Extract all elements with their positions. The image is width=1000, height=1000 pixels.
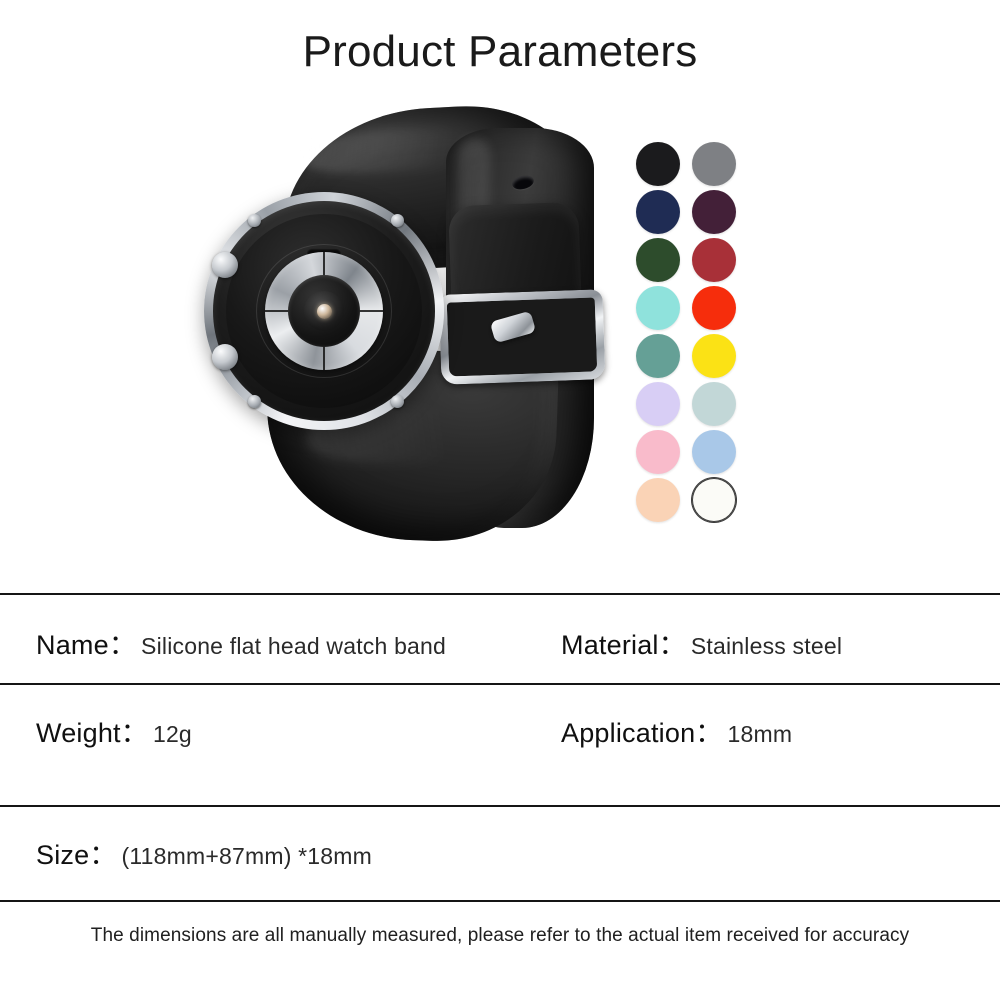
spec-size-value: (118mm+87mm) *18mm bbox=[122, 843, 372, 870]
spec-application-value: 18mm bbox=[728, 721, 793, 748]
spec-size: Size： (118mm+87mm) *18mm bbox=[36, 833, 372, 872]
spec-weight-label: Weight： bbox=[36, 711, 148, 750]
case-screw bbox=[391, 395, 404, 408]
spec-material-value: Stainless steel bbox=[691, 633, 842, 660]
color-swatch-teal-green[interactable] bbox=[636, 334, 680, 378]
color-swatch-yellow[interactable] bbox=[692, 334, 736, 378]
spec-weight: Weight： 12g bbox=[36, 711, 192, 750]
measurement-disclaimer: The dimensions are all manually measured… bbox=[0, 925, 1000, 947]
color-swatch-lavender[interactable] bbox=[636, 382, 680, 426]
spec-material-label: Material： bbox=[561, 623, 686, 662]
watch-upper-side-button[interactable] bbox=[212, 252, 238, 278]
spec-weight-value: 12g bbox=[153, 721, 192, 748]
color-swatch-black[interactable] bbox=[636, 142, 680, 186]
heart-rate-sensor-lens bbox=[317, 304, 332, 319]
spec-application-label: Application： bbox=[561, 711, 723, 750]
color-swatch-dark-purple[interactable] bbox=[692, 190, 736, 234]
color-swatch-dark-green[interactable] bbox=[636, 238, 680, 282]
case-screw bbox=[248, 395, 261, 408]
color-swatch-bright-red[interactable] bbox=[692, 286, 736, 330]
spec-name: Name： Silicone flat head watch band bbox=[36, 623, 446, 662]
stainless-steel-buckle bbox=[438, 289, 605, 385]
spec-name-value: Silicone flat head watch band bbox=[141, 633, 446, 660]
color-swatch-gray[interactable] bbox=[692, 142, 736, 186]
case-screw bbox=[391, 214, 404, 227]
strap-hole bbox=[511, 174, 535, 192]
watch-band-photo bbox=[196, 100, 626, 550]
color-swatch-pink[interactable] bbox=[636, 430, 680, 474]
smart-watch-case bbox=[204, 192, 444, 430]
product-image-panel bbox=[0, 95, 1000, 565]
watch-case-back bbox=[226, 214, 422, 408]
color-swatch-peach[interactable] bbox=[636, 478, 680, 522]
case-screw bbox=[248, 214, 261, 227]
spec-material: Material： Stainless steel bbox=[561, 623, 842, 662]
watch-lower-side-button[interactable] bbox=[212, 344, 238, 370]
color-swatch-brick-red[interactable] bbox=[692, 238, 736, 282]
color-swatch-pale-blue[interactable] bbox=[692, 382, 736, 426]
spec-row-size: Size： (118mm+87mm) *18mm bbox=[0, 805, 1000, 900]
color-swatch-grid bbox=[634, 141, 744, 525]
product-parameters-page: Product Parameters bbox=[0, 0, 1000, 1000]
spec-row-name-material: Name： Silicone flat head watch band Mate… bbox=[0, 593, 1000, 683]
spec-application: Application： 18mm bbox=[561, 711, 792, 750]
color-swatch-aqua-mint[interactable] bbox=[636, 286, 680, 330]
color-swatch-white[interactable] bbox=[692, 478, 736, 522]
footnote-divider bbox=[0, 900, 1000, 902]
spec-name-label: Name： bbox=[36, 623, 136, 662]
spec-size-label: Size： bbox=[36, 833, 117, 872]
spec-row-weight-application: Weight： 12g Application： 18mm bbox=[0, 683, 1000, 805]
color-swatch-light-blue[interactable] bbox=[692, 430, 736, 474]
color-swatch-navy-blue[interactable] bbox=[636, 190, 680, 234]
page-title: Product Parameters bbox=[0, 26, 1000, 79]
